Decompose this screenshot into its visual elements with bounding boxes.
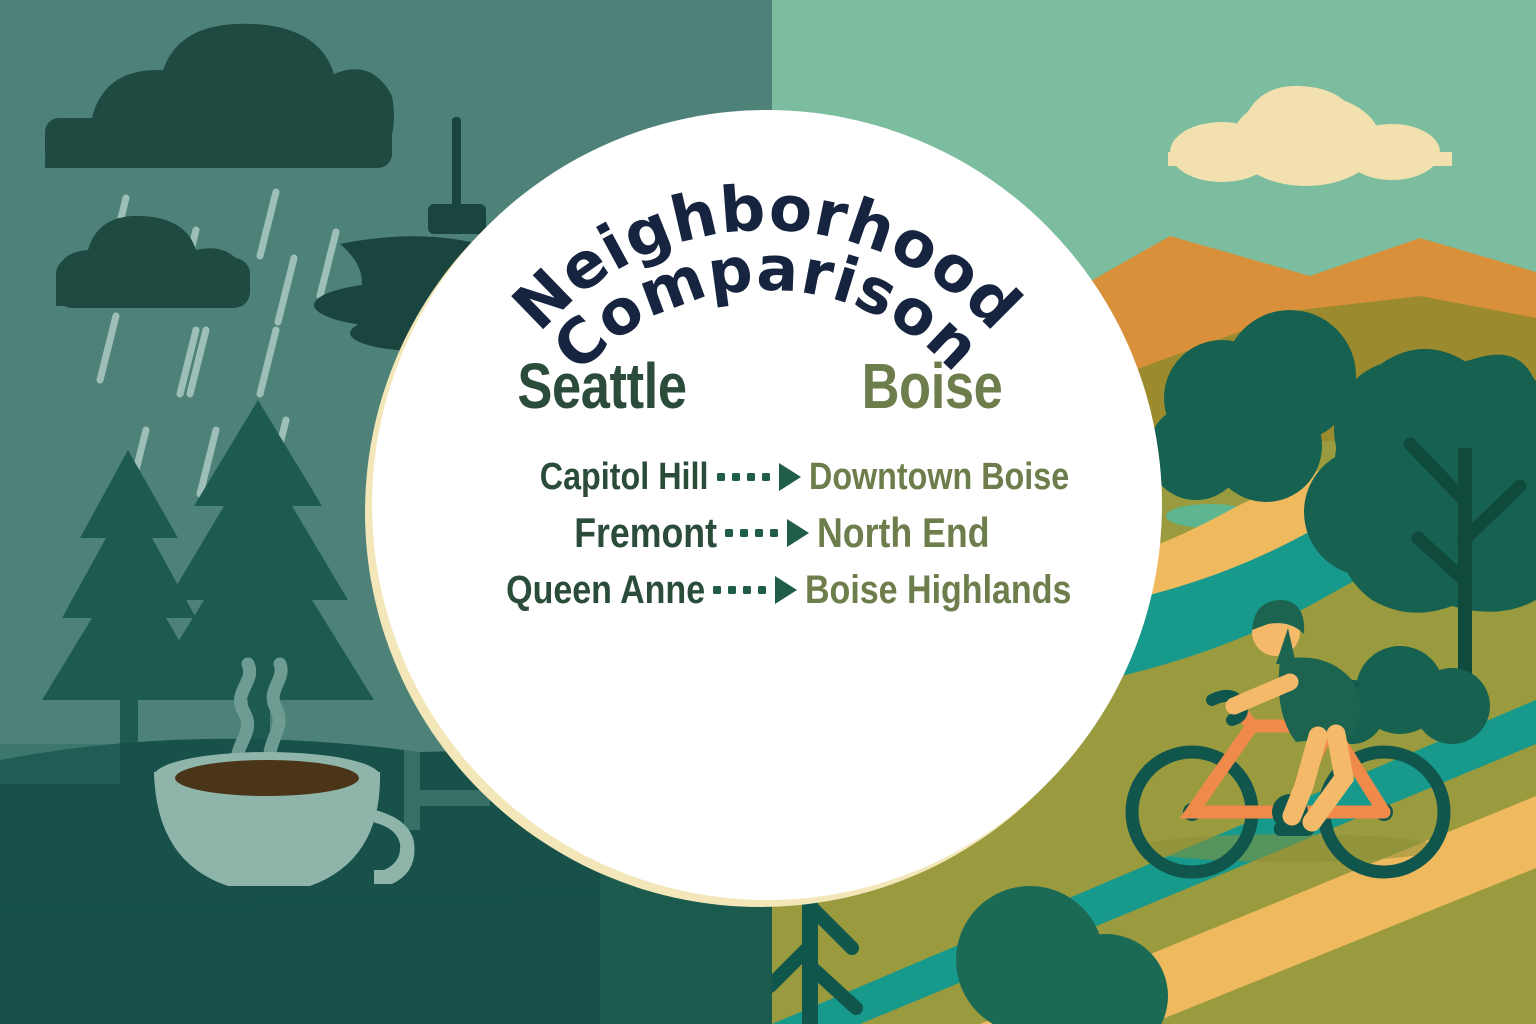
neighborhood-left-label: Capitol Hill (540, 458, 709, 496)
neighborhood-right: Boise Highlands (805, 570, 1118, 610)
cyclist-shadow (1140, 834, 1440, 862)
comparison-row: Fremont North End (407, 512, 1127, 554)
comparison-content: Seattle Boise Capitol Hill Downtown Bois… (372, 110, 1162, 900)
neighborhood-left: Capitol Hill (419, 458, 709, 496)
neighborhood-right-label: Downtown Boise (809, 458, 1069, 496)
neighborhood-left: Queen Anne (415, 570, 705, 610)
dashed-arrow-icon (705, 576, 805, 604)
ground-shade (0, 744, 120, 784)
neighborhood-right: Downtown Boise (809, 458, 1115, 496)
neighborhood-right-label: Boise Highlands (805, 570, 1071, 610)
neighborhood-left-label: Fremont (574, 512, 717, 554)
dashed-arrow-icon (717, 519, 817, 547)
neighborhood-left-label: Queen Anne (506, 570, 705, 610)
dashed-arrow-icon (709, 463, 809, 491)
neighborhood-right: North End (817, 512, 1107, 554)
neighborhood-right-label: North End (817, 512, 990, 554)
city-heading-left: Seattle (467, 354, 738, 418)
city-headings: Seattle Boise (427, 354, 1107, 418)
comparison-row: Capitol Hill Downtown Boise (407, 458, 1127, 496)
comparison-row: Queen Anne Boise Highlands (407, 570, 1127, 610)
infographic-canvas: Neighborhood Comparison Seattle Boise Ca… (0, 0, 1536, 1024)
neighborhood-left: Fremont (427, 512, 717, 554)
city-heading-right: Boise (797, 354, 1068, 418)
